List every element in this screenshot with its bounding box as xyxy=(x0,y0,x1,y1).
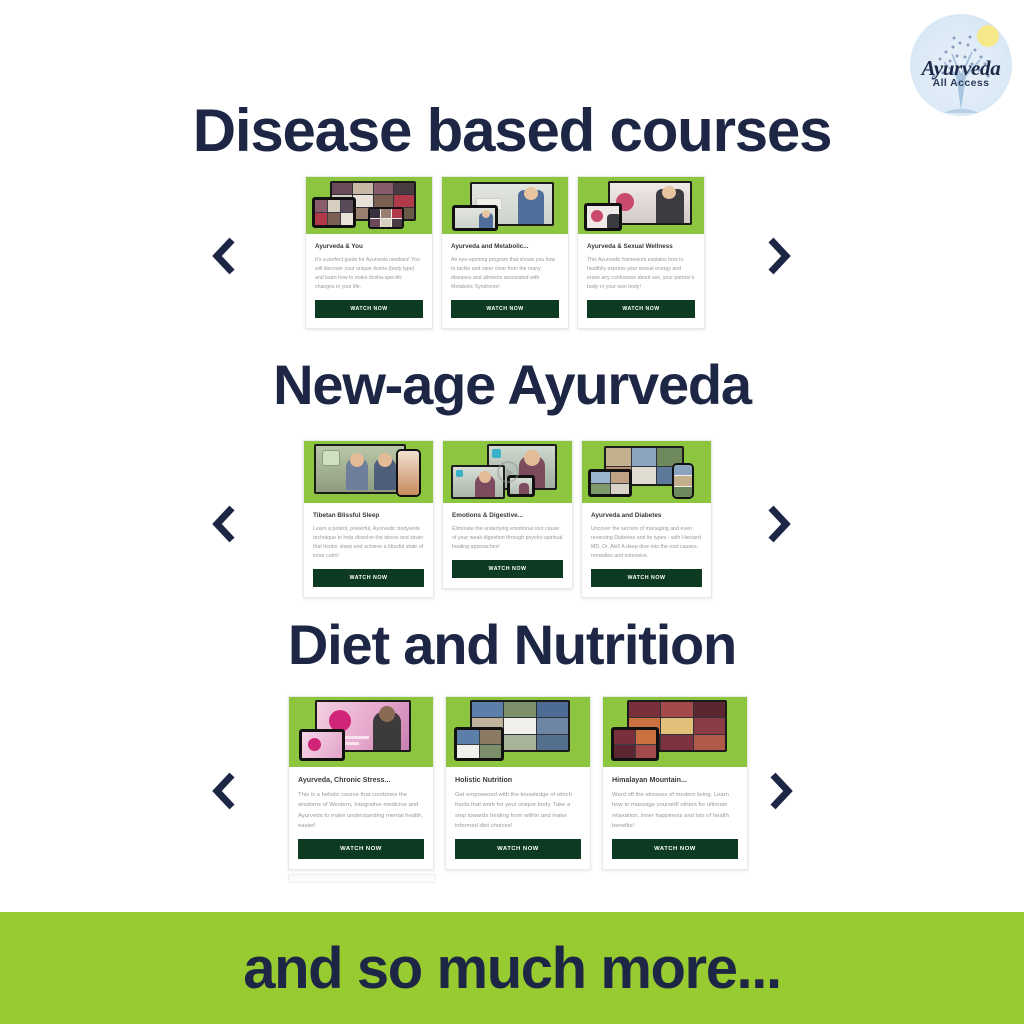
logo-tagline: All Access xyxy=(910,78,1012,89)
watch-now-button[interactable]: WATCH NOW xyxy=(451,300,559,318)
course-title: Ayurveda & Sexual Wellness xyxy=(587,243,695,250)
course-title: Ayurveda, Chronic Stress... xyxy=(298,776,424,784)
tablet-mock xyxy=(312,197,356,228)
logo-wordmark: Ayurveda xyxy=(910,58,1012,79)
chevron-left-icon xyxy=(205,768,245,814)
course-card[interactable]: Ayurveda & You It's a perfect guide for … xyxy=(305,176,433,329)
course-thumbnail xyxy=(446,697,590,767)
carousel-prev-arrow-row1[interactable] xyxy=(205,233,245,279)
tablet-mock xyxy=(299,729,345,761)
chevron-right-icon xyxy=(758,233,798,279)
carousel-row-new-age-ayurveda: Tibetan Blissful Sleep Learn a potent, p… xyxy=(0,440,1024,608)
course-description: Get empowered with the knowledge of whic… xyxy=(455,790,581,831)
course-card[interactable]: Ayurveda & Sexual Wellness This Ayurvedi… xyxy=(577,176,705,329)
carousel-prev-arrow-row3[interactable] xyxy=(205,768,245,814)
bottom-banner: and so much more... xyxy=(0,912,1024,1024)
course-description: Eliminate the underlying emotional root … xyxy=(452,525,563,552)
tablet-mock xyxy=(611,727,659,761)
carousel-prev-arrow-row2[interactable] xyxy=(205,501,245,547)
chevron-left-icon xyxy=(205,501,245,547)
chevron-right-icon xyxy=(760,768,800,814)
course-thumbnail xyxy=(603,697,747,767)
course-thumbnail xyxy=(304,441,433,503)
course-description: This is a holistic course that combines … xyxy=(298,790,424,831)
tablet-mock xyxy=(454,727,504,761)
course-description: It's a perfect guide for Ayurveda newbie… xyxy=(315,256,423,292)
watch-now-button[interactable]: WATCH NOW xyxy=(587,300,695,318)
course-card-body: Emotions & Digestive... Eliminate the un… xyxy=(443,503,572,588)
course-thumbnail xyxy=(582,441,711,503)
course-card-body: Ayurveda & You It's a perfect guide for … xyxy=(306,234,432,328)
course-card[interactable]: Ayurveda, Chronic Stress... This is a ho… xyxy=(288,696,434,870)
course-thumbnail xyxy=(443,441,572,503)
course-title: Himalayan Mountain... xyxy=(612,776,738,784)
carousel-row-disease-based-courses: Ayurveda & You It's a perfect guide for … xyxy=(0,176,1024,336)
course-description: This Ayurvedic framework explains how to… xyxy=(587,256,695,292)
section-heading-new-age-ayurveda: New-age Ayurveda xyxy=(0,352,1024,417)
section-heading-diet-and-nutrition: Diet and Nutrition xyxy=(0,612,1024,677)
card-list-row2: Tibetan Blissful Sleep Learn a potent, p… xyxy=(303,440,712,598)
course-thumbnail xyxy=(578,177,704,234)
course-title: Ayurveda & You xyxy=(315,243,423,250)
course-thumbnail xyxy=(289,697,433,767)
watch-now-button[interactable]: WATCH NOW xyxy=(315,300,423,318)
course-card-body: Ayurveda & Sexual Wellness This Ayurvedi… xyxy=(578,234,704,328)
course-thumbnail xyxy=(442,177,568,234)
course-card-body: Ayurveda and Diabetes Uncover the secret… xyxy=(582,503,711,597)
play-button-overlay-icon xyxy=(497,461,519,483)
watch-now-button[interactable]: WATCH NOW xyxy=(452,560,563,578)
carousel-next-arrow-row1[interactable] xyxy=(758,233,798,279)
course-description: An eye-opening program that shows you ho… xyxy=(451,256,559,292)
watch-now-button[interactable]: WATCH NOW xyxy=(612,839,738,859)
course-description: Uncover the secrets of managing and even… xyxy=(591,525,702,561)
promo-page: Ayurveda All Access Disease based course… xyxy=(0,0,1024,1024)
carousel-next-arrow-row2[interactable] xyxy=(758,501,798,547)
card-list-row1: Ayurveda & You It's a perfect guide for … xyxy=(305,176,705,329)
phone-mock xyxy=(672,463,694,499)
carousel-row-diet-and-nutrition: Ayurveda, Chronic Stress... This is a ho… xyxy=(0,696,1024,886)
card-list-row3: Ayurveda, Chronic Stress... This is a ho… xyxy=(288,696,748,870)
course-card[interactable]: Holistic Nutrition Get empowered with th… xyxy=(445,696,591,870)
course-thumbnail xyxy=(306,177,432,234)
course-description: Learn a potent, powerful, Ayurvedic body… xyxy=(313,525,424,561)
chevron-left-icon xyxy=(205,233,245,279)
carousel-next-arrow-row3[interactable] xyxy=(760,768,800,814)
watch-now-button[interactable]: WATCH NOW xyxy=(313,569,424,587)
tablet-mock xyxy=(584,203,622,231)
banner-text: and so much more... xyxy=(243,935,780,1002)
course-card[interactable]: Ayurveda and Diabetes Uncover the secret… xyxy=(581,440,712,598)
course-card[interactable]: Tibetan Blissful Sleep Learn a potent, p… xyxy=(303,440,434,598)
course-card-body: Tibetan Blissful Sleep Learn a potent, p… xyxy=(304,503,433,597)
tablet-mock xyxy=(452,205,498,231)
laptop-mock xyxy=(314,444,406,494)
course-title: Ayurveda and Metabolic... xyxy=(451,243,559,250)
course-card-body: Ayurveda, Chronic Stress... This is a ho… xyxy=(289,767,433,869)
chevron-right-icon xyxy=(758,501,798,547)
course-card[interactable]: Himalayan Mountain... Ward off the stres… xyxy=(602,696,748,870)
course-card-body: Ayurveda and Metabolic... An eye-opening… xyxy=(442,234,568,328)
phone-mock xyxy=(368,207,404,229)
watch-now-button[interactable]: WATCH NOW xyxy=(298,839,424,859)
course-title: Tibetan Blissful Sleep xyxy=(313,512,424,519)
course-card-body: Holistic Nutrition Get empowered with th… xyxy=(446,767,590,869)
section-heading-disease-based-courses: Disease based courses xyxy=(0,96,1024,165)
course-description: Ward off the stresses of modern living. … xyxy=(612,790,738,831)
watch-now-button[interactable]: WATCH NOW xyxy=(591,569,702,587)
course-card-body: Himalayan Mountain... Ward off the stres… xyxy=(603,767,747,869)
phone-mock xyxy=(396,449,421,497)
course-card[interactable]: Ayurveda and Metabolic... An eye-opening… xyxy=(441,176,569,329)
watch-now-button[interactable]: WATCH NOW xyxy=(455,839,581,859)
partial-card-artifact xyxy=(288,874,436,883)
course-title: Ayurveda and Diabetes xyxy=(591,512,702,519)
course-title: Emotions & Digestive... xyxy=(452,512,563,519)
course-card[interactable]: Emotions & Digestive... Eliminate the un… xyxy=(442,440,573,589)
tablet-mock xyxy=(588,469,632,497)
course-title: Holistic Nutrition xyxy=(455,776,581,784)
